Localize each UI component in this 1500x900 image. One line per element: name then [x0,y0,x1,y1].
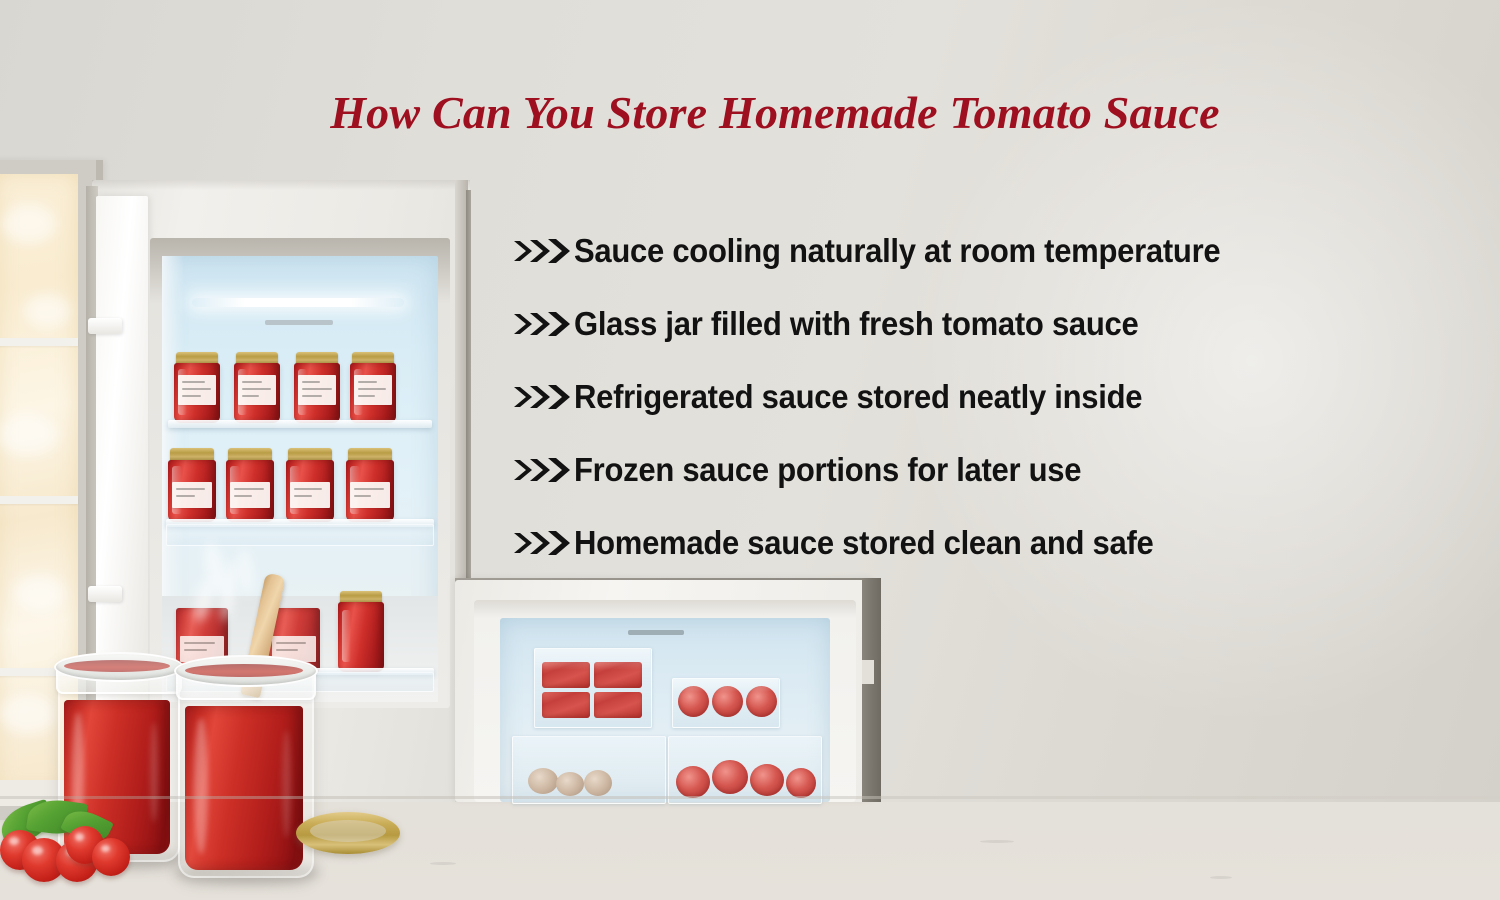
list-item[interactable]: Frozen sauce portions for later use [512,433,1492,506]
fridge-door-handle[interactable] [88,318,122,334]
cherry-tomato [92,838,130,876]
jar-label [238,375,276,405]
feature-list: Sauce cooling naturally at room temperat… [512,214,1492,579]
fridge-interior-light [192,298,404,307]
triple-chevron-right-icon [512,382,574,412]
triple-chevron-right-icon [512,455,574,485]
triple-chevron-right-icon [512,309,574,339]
fridge-shelf-rim [166,524,434,546]
list-item-label: Refrigerated sauce stored neatly inside [574,380,1142,413]
sauce-jar [338,602,384,672]
fridge-top-shadow [92,180,470,190]
jar-label [172,482,212,508]
fridge-side-edge [862,578,881,802]
jar-label [350,482,390,508]
list-item-label: Glass jar filled with fresh tomato sauce [574,307,1138,340]
fridge-shelf-top [168,420,432,428]
freezer-vent [628,630,684,635]
list-item-label: Frozen sauce portions for later use [574,453,1081,486]
list-item[interactable]: Refrigerated sauce stored neatly inside [512,360,1492,433]
fridge-vent [265,320,333,325]
jar-label [230,482,270,508]
jar-label [354,375,392,405]
list-item[interactable]: Homemade sauce stored clean and safe [512,506,1492,579]
list-item[interactable]: Sauce cooling naturally at room temperat… [512,214,1492,287]
list-item-label: Homemade sauce stored clean and safe [574,526,1153,559]
infographic-canvas: How Can You Store Homemade Tomato Sauce … [0,0,1500,900]
jar-label [178,375,216,405]
triple-chevron-right-icon [512,528,574,558]
fridge-door-handle-lower[interactable] [88,586,122,602]
triple-chevron-right-icon [512,236,574,266]
list-item-label: Sauce cooling naturally at room temperat… [574,234,1220,267]
page-title: How Can You Store Homemade Tomato Sauce [150,86,1400,139]
jar-label [290,482,330,508]
window-mullion [0,496,78,504]
window-mullion [0,338,78,346]
jar-label [298,375,336,405]
fridge-side-notch [862,660,874,684]
list-item[interactable]: Glass jar filled with fresh tomato sauce [512,287,1492,360]
